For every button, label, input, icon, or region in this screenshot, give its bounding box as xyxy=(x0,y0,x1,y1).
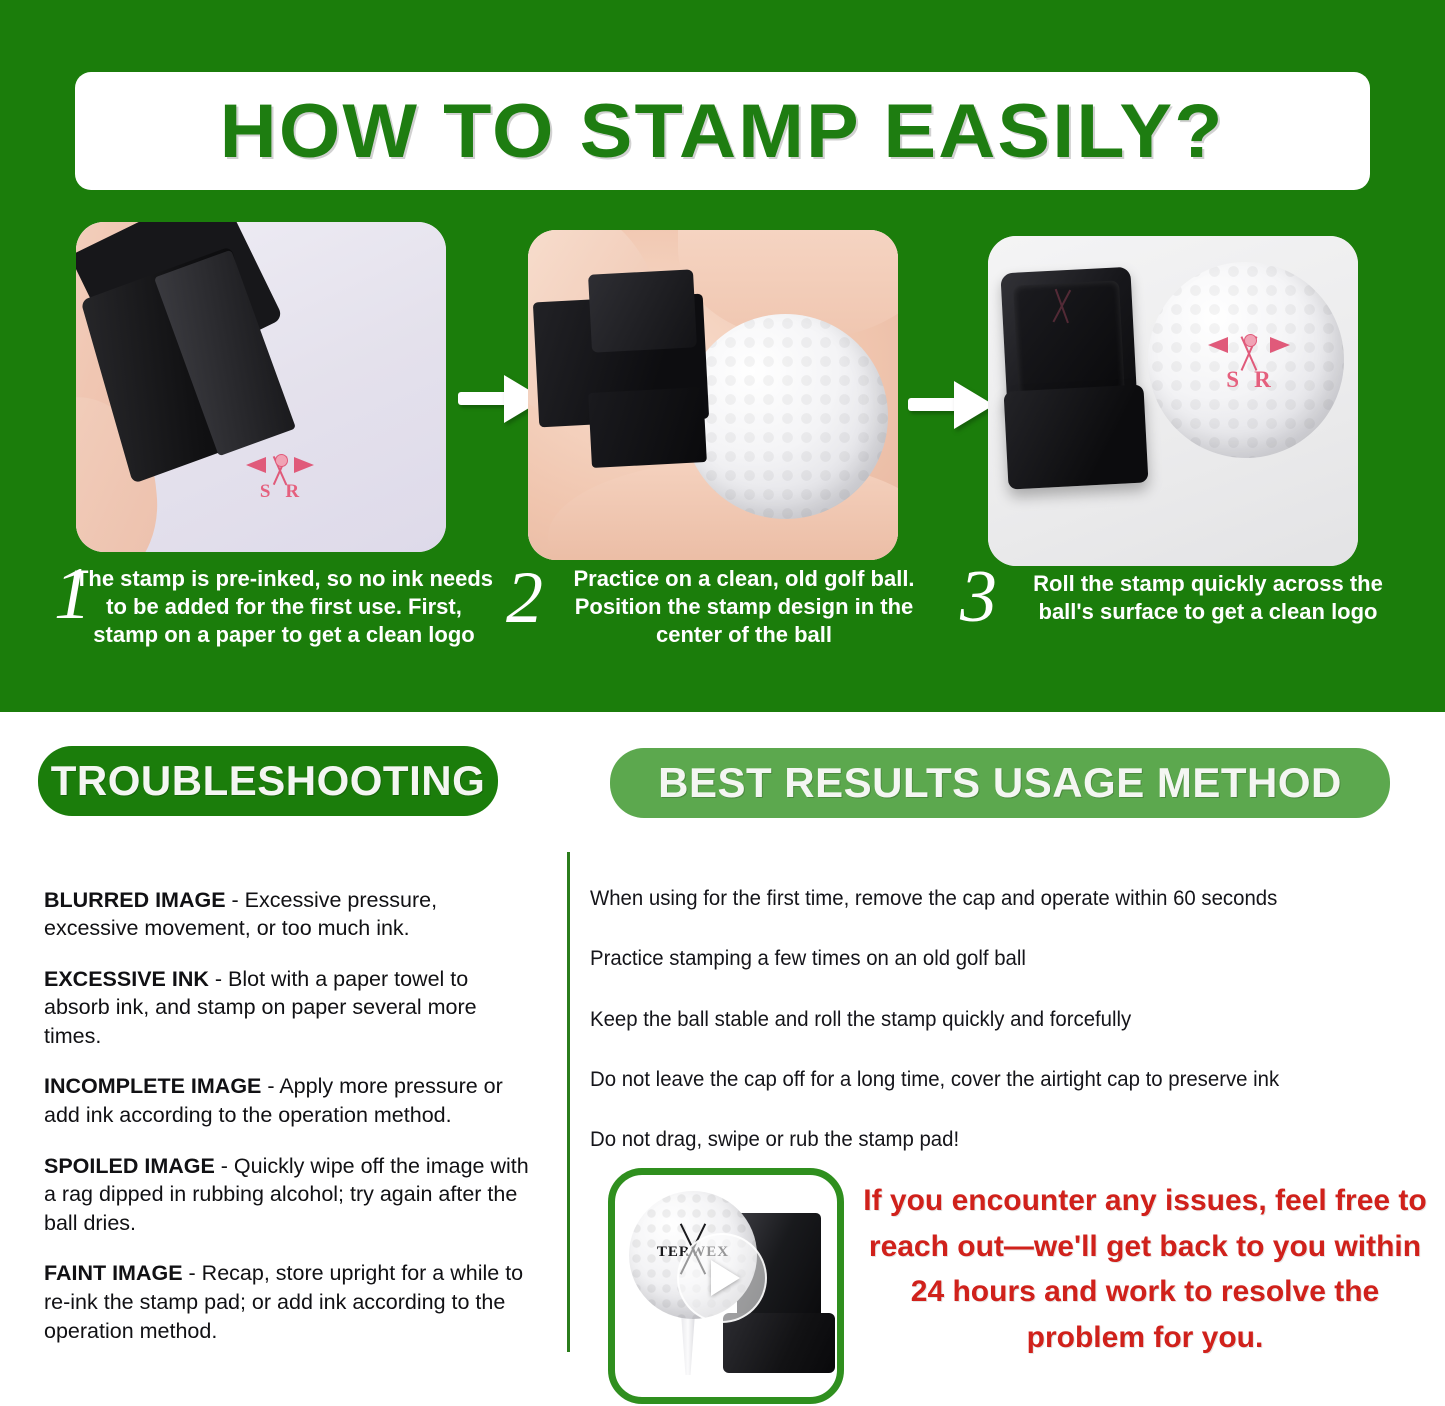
troubleshooting-item: FAINT IMAGE - Recap, store upright for a… xyxy=(44,1259,534,1345)
stamp-base-thumb xyxy=(723,1313,835,1373)
cap-engraved-logo xyxy=(1020,285,1102,350)
step-2-number: 2 xyxy=(506,561,543,635)
troubleshooting-term: BLURRED IMAGE xyxy=(44,888,226,912)
stamp-base xyxy=(588,387,707,468)
page-title: HOW TO STAMP EASILY? xyxy=(220,88,1225,175)
troubleshooting-heading: TROUBLESHOOTING xyxy=(38,746,498,816)
best-results-item: When using for the first time, remove th… xyxy=(590,885,1385,912)
step-3-caption: Roll the stamp quickly across the ball's… xyxy=(1008,570,1408,626)
step-3-caption-block: 3 Roll the stamp quickly across the ball… xyxy=(950,570,1410,626)
troubleshooting-term: INCOMPLETE IMAGE xyxy=(44,1074,261,1098)
flag-left xyxy=(246,457,266,473)
step-2-caption: Practice on a clean, old golf ball. Posi… xyxy=(544,565,944,649)
best-results-item: Do not drag, swipe or rub the stamp pad! xyxy=(590,1126,1385,1153)
step-3-photo: S R xyxy=(988,236,1358,566)
golf-tee xyxy=(681,1313,695,1375)
stamp-handle xyxy=(1004,384,1149,489)
how-to-stamp-panel: HOW TO STAMP EASILY? xyxy=(0,0,1445,712)
troubleshooting-item: BLURRED IMAGE - Excessive pressure, exce… xyxy=(44,886,534,944)
step-2-caption-block: 2 Practice on a clean, old golf ball. Po… xyxy=(500,565,950,649)
page-title-box: HOW TO STAMP EASILY? xyxy=(75,72,1370,190)
step-2-photo-inner xyxy=(528,230,898,560)
troubleshooting-term: FAINT IMAGE xyxy=(44,1261,183,1285)
flag-right xyxy=(294,457,314,473)
best-results-item: Practice stamping a few times on an old … xyxy=(590,945,1385,972)
best-results-item: Do not leave the cap off for a long time… xyxy=(590,1066,1385,1093)
step-1-caption-block: 1 The stamp is pre-inked, so no ink need… xyxy=(40,565,495,649)
golf-ball-icon xyxy=(275,454,288,467)
golf-ball xyxy=(683,314,888,519)
step-3-number: 3 xyxy=(960,560,997,634)
step-2-photo xyxy=(528,230,898,560)
video-thumbnail[interactable]: TERWEX xyxy=(608,1168,844,1404)
crossed-flags-icon xyxy=(1206,335,1292,372)
step-1-number: 1 xyxy=(54,557,91,631)
stamp-cap xyxy=(588,269,697,352)
step-1-photo-inner: S R xyxy=(76,222,446,552)
step-1-photo: S R xyxy=(76,222,446,552)
step-1-caption: The stamp is pre-inked, so no ink needs … xyxy=(74,565,494,649)
flag-pole-right xyxy=(1053,290,1072,323)
best-results-heading: BEST RESULTS USAGE METHOD xyxy=(610,748,1390,818)
stamped-logo-mark: S R xyxy=(244,452,316,504)
flag-right xyxy=(1270,337,1290,353)
flag-left xyxy=(1208,337,1228,353)
troubleshooting-item: INCOMPLETE IMAGE - Apply more pressure o… xyxy=(44,1072,534,1130)
troubleshooting-term: EXCESSIVE INK xyxy=(44,967,209,991)
step-3-photo-inner: S R xyxy=(988,236,1358,566)
play-button-icon[interactable] xyxy=(677,1233,767,1323)
best-results-item: Keep the ball stable and roll the stamp … xyxy=(590,1006,1385,1033)
troubleshooting-item: SPOILED IMAGE - Quickly wipe off the ima… xyxy=(44,1152,534,1238)
golf-ball-dimples xyxy=(683,314,888,519)
golf-ball-icon xyxy=(1244,334,1257,347)
crossed-flags-icon xyxy=(1022,285,1102,326)
infographic-page: HOW TO STAMP EASILY? xyxy=(0,0,1445,1406)
troubleshooting-term: SPOILED IMAGE xyxy=(44,1154,215,1178)
troubleshooting-list: BLURRED IMAGE - Excessive pressure, exce… xyxy=(44,864,534,1367)
stamped-logo-on-ball: S R xyxy=(1206,332,1292,394)
best-results-list: When using for the first time, remove th… xyxy=(590,864,1410,1186)
arrow-right-icon-2 xyxy=(908,378,996,430)
contact-note: If you encounter any issues, feel free t… xyxy=(860,1178,1430,1360)
troubleshooting-item: EXCESSIVE INK - Blot with a paper towel … xyxy=(44,965,534,1051)
crossed-flags-icon xyxy=(244,455,316,486)
column-divider xyxy=(567,852,570,1352)
play-triangle xyxy=(711,1260,740,1296)
